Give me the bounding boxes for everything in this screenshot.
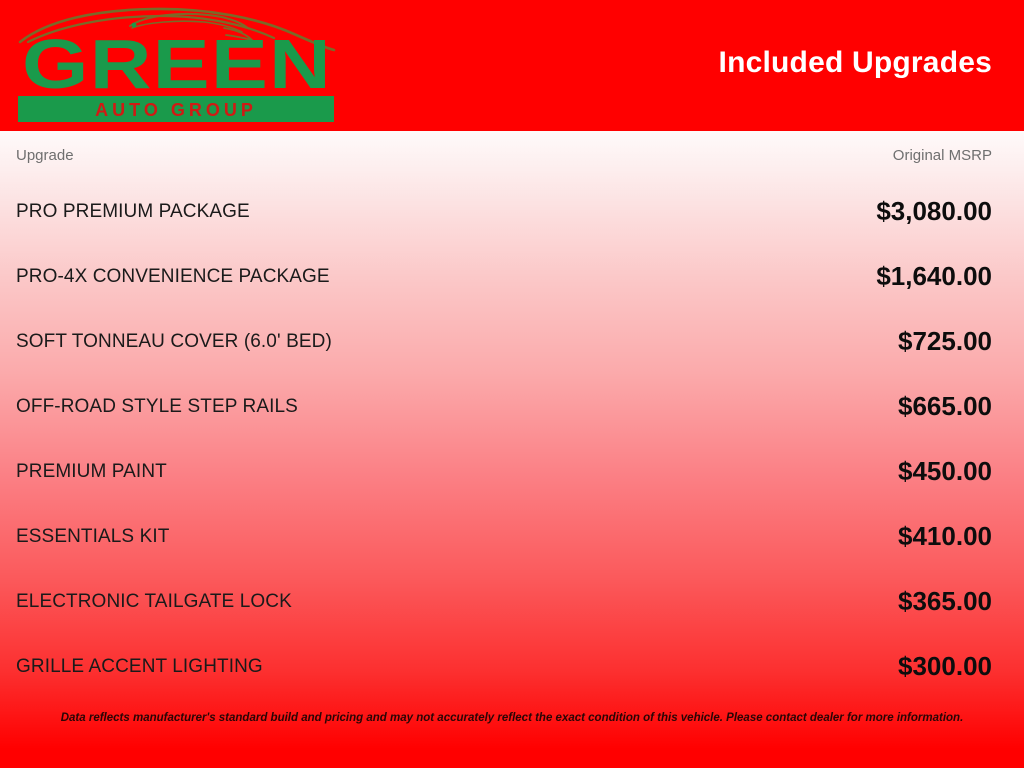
table-row: PRO PREMIUM PACKAGE$3,080.00 [0, 179, 1024, 244]
included-upgrades-page: GREEN AUTO GROUP Included Upgrades Upgra… [0, 0, 1024, 768]
page-title: Included Upgrades [719, 46, 992, 80]
upgrade-msrp: $450.00 [898, 456, 992, 487]
table-header-row: Upgrade Original MSRP [0, 131, 1024, 179]
upgrade-name: PRO PREMIUM PACKAGE [16, 201, 876, 223]
upgrade-msrp: $365.00 [898, 586, 992, 617]
upgrade-name: OFF-ROAD STYLE STEP RAILS [16, 396, 898, 418]
table-row: GRILLE ACCENT LIGHTING$300.00 [0, 634, 1024, 699]
upgrade-msrp: $725.00 [898, 326, 992, 357]
table-row: OFF-ROAD STYLE STEP RAILS$665.00 [0, 374, 1024, 439]
upgrade-name: PREMIUM PAINT [16, 461, 898, 483]
upgrades-table: Upgrade Original MSRP PRO PREMIUM PACKAG… [0, 131, 1024, 768]
upgrade-msrp: $3,080.00 [876, 196, 992, 227]
table-body: PRO PREMIUM PACKAGE$3,080.00PRO-4X CONVE… [0, 179, 1024, 699]
table-row: PREMIUM PAINT$450.00 [0, 439, 1024, 504]
upgrade-msrp: $410.00 [898, 521, 992, 552]
upgrade-name: SOFT TONNEAU COVER (6.0' BED) [16, 331, 898, 353]
logo-wordmark: GREEN [22, 25, 332, 103]
table-row: SOFT TONNEAU COVER (6.0' BED)$725.00 [0, 309, 1024, 374]
svg-text:AUTO GROUP: AUTO GROUP [95, 100, 257, 120]
table-row: PRO-4X CONVENIENCE PACKAGE$1,640.00 [0, 244, 1024, 309]
upgrade-msrp: $665.00 [898, 391, 992, 422]
logo-subbar: AUTO GROUP [18, 96, 334, 122]
upgrade-name: GRILLE ACCENT LIGHTING [16, 656, 898, 678]
disclaimer-text: Data reflects manufacturer's standard bu… [16, 712, 1008, 724]
upgrade-msrp: $300.00 [898, 651, 992, 682]
upgrade-name: PRO-4X CONVENIENCE PACKAGE [16, 266, 876, 288]
dealer-logo[interactable]: GREEN AUTO GROUP [12, 4, 342, 126]
upgrade-name: ESSENTIALS KIT [16, 526, 898, 548]
column-header-msrp: Original MSRP [893, 147, 992, 164]
upgrade-msrp: $1,640.00 [876, 261, 992, 292]
upgrade-name: ELECTRONIC TAILGATE LOCK [16, 591, 898, 613]
svg-text:GREEN: GREEN [22, 25, 332, 103]
table-row: ESSENTIALS KIT$410.00 [0, 504, 1024, 569]
column-header-upgrade: Upgrade [16, 147, 893, 164]
table-row: ELECTRONIC TAILGATE LOCK$365.00 [0, 569, 1024, 634]
page-header: GREEN AUTO GROUP Included Upgrades [0, 0, 1024, 131]
